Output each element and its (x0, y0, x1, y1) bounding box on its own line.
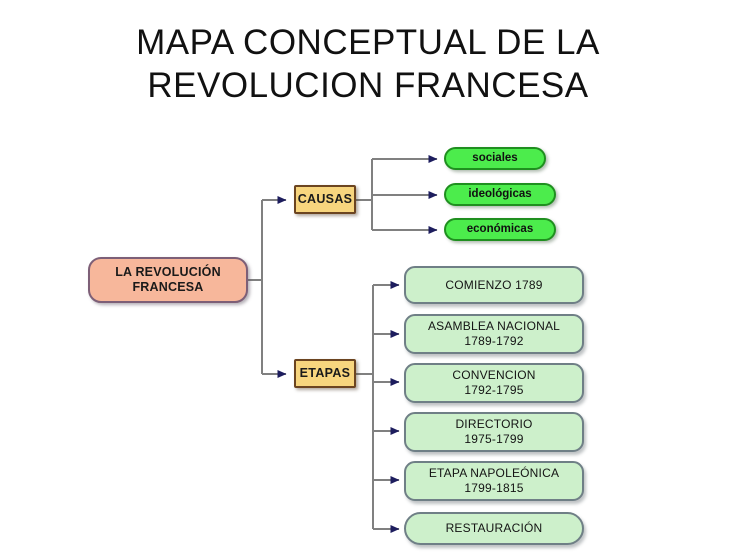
concept-map-diagram: MAPA CONCEPTUAL DE LA REVOLUCION FRANCES… (0, 0, 736, 552)
economicas-label: económicas (467, 222, 533, 236)
sociales-label: sociales (472, 151, 517, 165)
causas-label: CAUSAS (298, 192, 353, 207)
convencion-label-line-2: 1792-1795 (452, 383, 535, 398)
node-la-revolucion-francesa[interactable]: LA REVOLUCIÓN FRANCESA (88, 257, 248, 303)
napoleonica-label-line-1: ETAPA NAPOLEÓNICA (429, 466, 559, 480)
node-causas[interactable]: CAUSAS (294, 185, 356, 214)
node-etapa-napoleonica[interactable]: ETAPA NAPOLEÓNICA 1799-1815 (404, 461, 584, 501)
asamblea-label-line-1: ASAMBLEA NACIONAL (428, 319, 560, 333)
napoleonica-label-line-2: 1799-1815 (429, 481, 559, 496)
restauracion-label-line-1: RESTAURACIÓN (446, 521, 543, 535)
directorio-label-line-2: 1975-1799 (455, 432, 532, 447)
node-convencion[interactable]: CONVENCION 1792-1795 (404, 363, 584, 403)
root-label-line-1: LA REVOLUCIÓN (115, 265, 221, 279)
comienzo-label-line-1: COMIENZO 1789 (445, 278, 542, 292)
page-title: MAPA CONCEPTUAL DE LA REVOLUCION FRANCES… (0, 22, 736, 107)
convencion-label-line-1: CONVENCION (452, 368, 535, 382)
node-economicas[interactable]: económicas (444, 218, 556, 241)
etapas-label: ETAPAS (300, 366, 351, 381)
node-restauracion[interactable]: RESTAURACIÓN (404, 512, 584, 545)
root-label-line-2: FRANCESA (132, 280, 203, 294)
directorio-label-line-1: DIRECTORIO (455, 417, 532, 431)
node-asamblea-nacional[interactable]: ASAMBLEA NACIONAL 1789-1792 (404, 314, 584, 354)
node-comienzo-1789[interactable]: COMIENZO 1789 (404, 266, 584, 304)
title-line-1: MAPA CONCEPTUAL DE LA (0, 22, 736, 65)
title-line-2: REVOLUCION FRANCESA (0, 65, 736, 108)
node-ideologicas[interactable]: ideológicas (444, 183, 556, 206)
node-directorio[interactable]: DIRECTORIO 1975-1799 (404, 412, 584, 452)
ideologicas-label: ideológicas (468, 187, 531, 201)
asamblea-label-line-2: 1789-1792 (428, 334, 560, 349)
node-sociales[interactable]: sociales (444, 147, 546, 170)
node-etapas[interactable]: ETAPAS (294, 359, 356, 388)
